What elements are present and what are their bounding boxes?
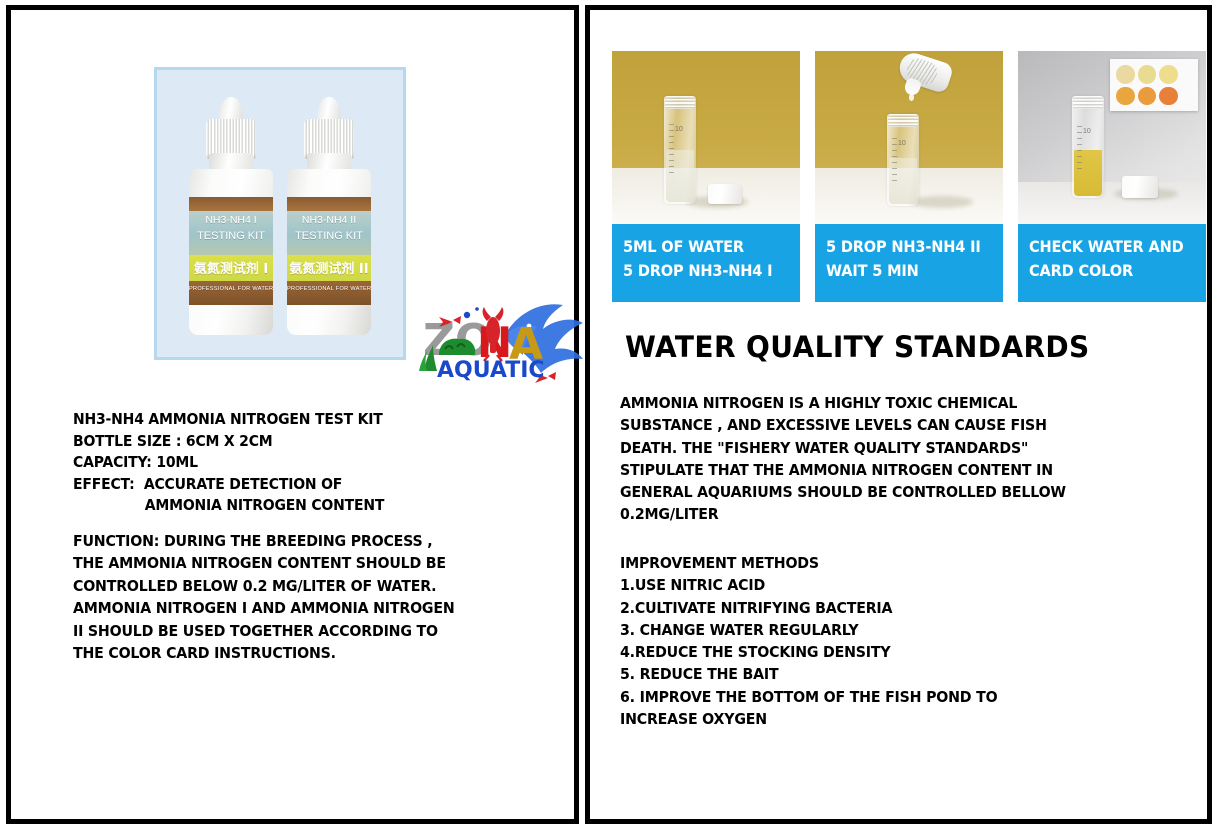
step-card-3: 10 CHECK WATER AND CARD COLOR xyxy=(1018,51,1206,302)
label-band-bottom xyxy=(287,281,371,305)
body-line: STIPULATE THAT THE AMMONIA NITROGEN CONT… xyxy=(620,459,1154,481)
bubble-icon xyxy=(475,307,479,311)
body-line: AMMONIA NITROGEN IS A HIGHLY TOXIC CHEMI… xyxy=(620,392,1154,414)
spec-line: BOTTLE SIZE : 6CM X 2CM xyxy=(73,431,533,453)
color-comparison-card xyxy=(1110,59,1198,111)
vial-rim xyxy=(665,96,695,109)
bottle-label-kit: TESTING KIT xyxy=(189,230,273,242)
bottle-body: NH3-NH4 I TESTING KIT 氨氮测试剂 I PROFESSION… xyxy=(189,169,273,335)
body-line: 0.2MG/LITER xyxy=(620,503,1154,525)
label-band-top xyxy=(287,197,371,211)
improvement-heading: IMPROVEMENT METHODS xyxy=(620,552,1154,574)
vial-graduations xyxy=(892,138,897,184)
usage-steps: 10 5ML OF WATER 5 DROP NH3-NH4 I xyxy=(612,51,1206,302)
logo-subtitle: AQUATIC xyxy=(437,358,545,383)
vial-rim xyxy=(888,114,918,127)
bottle-body: NH3-NH4 II TESTING KIT 氨氮测试剂 II PROFESSI… xyxy=(287,169,371,335)
label-band-bottom xyxy=(189,281,273,305)
product-function-text: FUNCTION: DURING THE BREEDING PROCESS , … xyxy=(73,530,578,664)
caption-line: 5 DROP NH3-NH4 II xyxy=(826,235,985,259)
left-panel: NH3-NH4 I TESTING KIT 氨氮测试剂 I PROFESSION… xyxy=(6,5,579,824)
vial-mark-label: 10 xyxy=(1083,128,1091,135)
vial-graduations xyxy=(669,124,674,178)
caption-line: 5ML OF WATER xyxy=(623,235,782,259)
function-line: AMMONIA NITROGEN I AND AMMONIA NITROGEN xyxy=(73,597,538,619)
spec-line: EFFECT: ACCURATE DETECTION OF xyxy=(73,474,533,496)
vial-mark-label: 10 xyxy=(675,126,683,133)
bottle-nh3-nh4-i: NH3-NH4 I TESTING KIT 氨氮测试剂 I PROFESSION… xyxy=(189,107,273,335)
step-1-caption: 5ML OF WATER 5 DROP NH3-NH4 I xyxy=(612,224,800,302)
bottle-label-chinese: 氨氮测试剂 II xyxy=(287,258,371,277)
step-card-2: 10 5 DROP NH3-NH4 II WAIT 5 MIN xyxy=(815,51,1003,302)
color-swatch xyxy=(1138,87,1157,106)
sample-vial: 10 xyxy=(1072,96,1104,198)
water-quality-body: AMMONIA NITROGEN IS A HIGHLY TOXIC CHEMI… xyxy=(620,392,1200,526)
water-quality-heading: WATER QUALITY STANDARDS xyxy=(625,330,1090,364)
spec-line: CAPACITY: 10ML xyxy=(73,452,533,474)
improvement-line: 6. IMPROVE THE BOTTOM OF THE FISH POND T… xyxy=(620,686,1154,708)
body-line: DEATH. THE "FISHERY WATER QUALITY STANDA… xyxy=(620,437,1154,459)
body-line: GENERAL AQUARIUMS SHOULD BE CONTROLLED B… xyxy=(620,481,1154,503)
bottle-label-footer: PROFESSIONAL FOR WATER xyxy=(189,286,273,292)
improvement-line: 1.USE NITRIC ACID xyxy=(620,574,1154,596)
color-swatch xyxy=(1116,65,1135,84)
step-card-1: 10 5ML OF WATER 5 DROP NH3-NH4 I xyxy=(612,51,800,302)
dropper-bottle xyxy=(899,57,959,109)
cap-shadow xyxy=(911,196,973,208)
bottle-label-chinese: 氨氮测试剂 I xyxy=(189,258,273,277)
function-line: THE COLOR CARD INSTRUCTIONS. xyxy=(73,642,538,664)
bottle-label-kit: TESTING KIT xyxy=(287,230,371,242)
sample-vial: 10 xyxy=(664,96,696,204)
bottle-label-footer: PROFESSIONAL FOR WATER xyxy=(287,286,371,292)
improvement-line: INCREASE OXYGEN xyxy=(620,708,1154,730)
product-spec-list: NH3-NH4 AMMONIA NITROGEN TEST KIT BOTTLE… xyxy=(73,409,573,517)
body-line: SUBSTANCE , AND EXCESSIVE LEVELS CAN CAU… xyxy=(620,414,1154,436)
vial-cap xyxy=(708,184,742,204)
caption-line: CHECK WATER AND xyxy=(1029,235,1188,259)
function-line: THE AMMONIA NITROGEN CONTENT SHOULD BE xyxy=(73,552,538,574)
spec-line: NH3-NH4 AMMONIA NITROGEN TEST KIT xyxy=(73,409,533,431)
vial-cap xyxy=(1122,176,1158,198)
color-swatch xyxy=(1159,87,1178,106)
liquid-drop-icon xyxy=(909,94,914,101)
bubble-icon xyxy=(464,312,470,318)
vial-rim xyxy=(1073,96,1103,109)
improvement-line: 5. REDUCE THE BAIT xyxy=(620,663,1154,685)
bottle-label-name: NH3-NH4 I xyxy=(189,214,273,226)
step-2-caption: 5 DROP NH3-NH4 II WAIT 5 MIN xyxy=(815,224,1003,302)
caption-line: 5 DROP NH3-NH4 I xyxy=(623,259,782,283)
improvement-methods-block: IMPROVEMENT METHODS 1.USE NITRIC ACID 2.… xyxy=(620,552,1200,730)
step-3-caption: CHECK WATER AND CARD COLOR xyxy=(1018,224,1206,302)
sample-vial: 10 xyxy=(887,114,919,206)
product-photo: NH3-NH4 I TESTING KIT 氨氮测试剂 I PROFESSION… xyxy=(154,67,406,360)
label-band-top xyxy=(189,197,273,211)
bottle-label-name: NH3-NH4 II xyxy=(287,214,371,226)
spec-line: AMMONIA NITROGEN CONTENT xyxy=(73,495,533,517)
function-line: II SHOULD BE USED TOGETHER ACCORDING TO xyxy=(73,620,538,642)
caption-line: CARD COLOR xyxy=(1029,259,1188,283)
color-swatch xyxy=(1138,65,1157,84)
color-swatch xyxy=(1116,87,1135,106)
vial-mark-label: 10 xyxy=(898,140,906,147)
step-1-photo: 10 xyxy=(612,51,800,224)
step-3-photo: 10 xyxy=(1018,51,1206,224)
caption-line: WAIT 5 MIN xyxy=(826,259,985,283)
bottle-nh3-nh4-ii: NH3-NH4 II TESTING KIT 氨氮测试剂 II PROFESSI… xyxy=(287,107,371,335)
function-line: CONTROLLED BELOW 0.2 MG/LITER OF WATER. xyxy=(73,575,538,597)
vial-graduations xyxy=(1077,126,1082,174)
improvement-line: 3. CHANGE WATER REGULARLY xyxy=(620,619,1154,641)
function-line: FUNCTION: DURING THE BREEDING PROCESS , xyxy=(73,530,538,552)
step-2-photo: 10 xyxy=(815,51,1003,224)
infographic-stage: NH3-NH4 I TESTING KIT 氨氮测试剂 I PROFESSION… xyxy=(0,0,1231,829)
improvement-line: 2.CULTIVATE NITRIFYING BACTERIA xyxy=(620,597,1154,619)
improvement-line: 4.REDUCE THE STOCKING DENSITY xyxy=(620,641,1154,663)
zona-aquatic-logo: ZO N A xyxy=(405,293,585,383)
color-swatch xyxy=(1159,65,1178,84)
